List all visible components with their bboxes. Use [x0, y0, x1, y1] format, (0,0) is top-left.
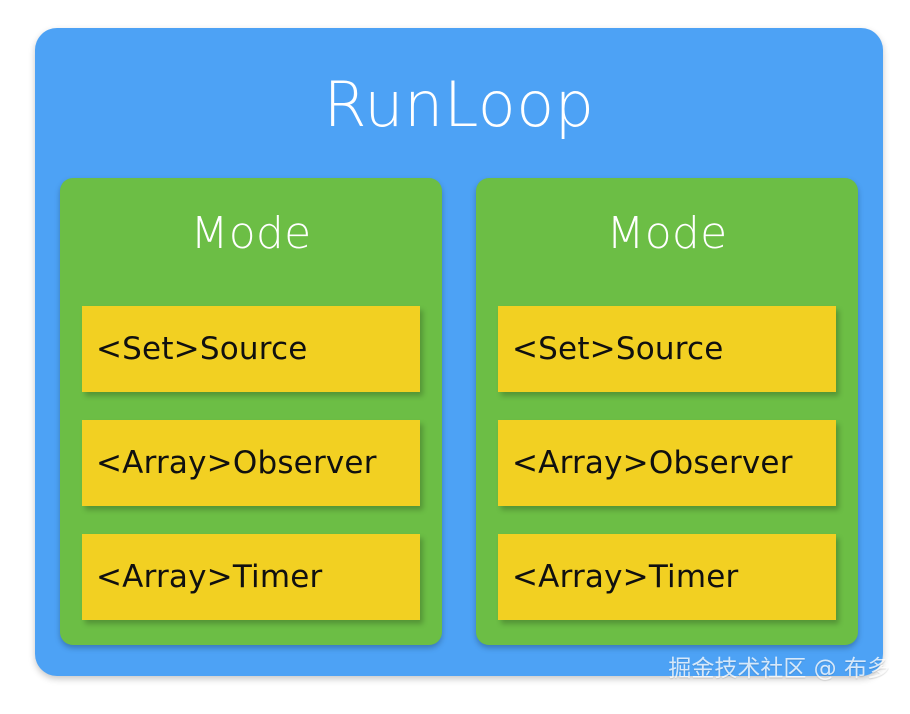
runloop-title: RunLoop — [35, 74, 883, 136]
item-label: <Array>Observer — [96, 448, 377, 479]
item-label: <Array>Observer — [512, 448, 793, 479]
item-label: <Set>Source — [512, 334, 724, 365]
mode-box-right: Mode <Set>Source <Array>Observer <Array>… — [476, 178, 858, 645]
mode-title-left: Mode — [60, 212, 442, 256]
mode-title-right: Mode — [476, 212, 858, 256]
item-label: <Array>Timer — [96, 562, 322, 593]
watermark: 掘金技术社区 @ 布多 — [650, 658, 890, 681]
mode-items-right: <Set>Source <Array>Observer <Array>Timer — [498, 306, 836, 620]
mode-box-left: Mode <Set>Source <Array>Observer <Array>… — [60, 178, 442, 645]
item-label: <Set>Source — [96, 334, 308, 365]
mode-items-left: <Set>Source <Array>Observer <Array>Timer — [82, 306, 420, 620]
item-timer-left: <Array>Timer — [82, 534, 420, 620]
item-observer-right: <Array>Observer — [498, 420, 836, 506]
item-source-left: <Set>Source — [82, 306, 420, 392]
diagram-canvas: RunLoop Mode <Set>Source <Array>Observer… — [0, 0, 910, 714]
item-timer-right: <Array>Timer — [498, 534, 836, 620]
mode-columns: Mode <Set>Source <Array>Observer <Array>… — [60, 178, 858, 645]
item-observer-left: <Array>Observer — [82, 420, 420, 506]
runloop-container: RunLoop Mode <Set>Source <Array>Observer… — [35, 28, 883, 676]
item-label: <Array>Timer — [512, 562, 738, 593]
item-source-right: <Set>Source — [498, 306, 836, 392]
